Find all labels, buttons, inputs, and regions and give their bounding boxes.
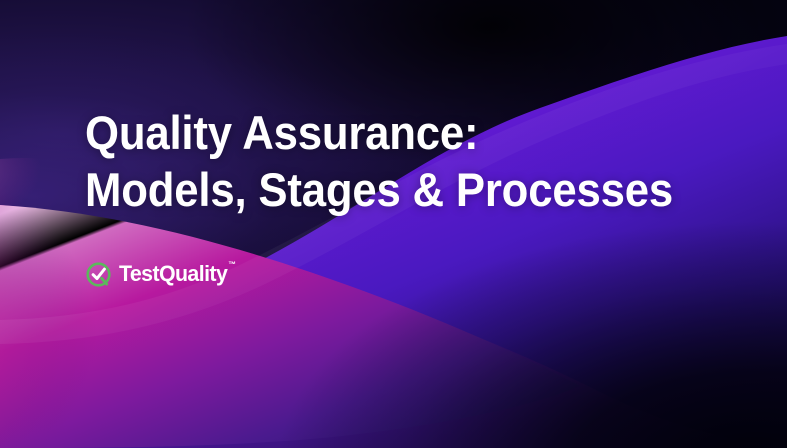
hero-banner: Quality Assurance: Models, Stages & Proc… xyxy=(0,0,787,448)
trademark-symbol: ™ xyxy=(228,260,236,269)
page-title: Quality Assurance: Models, Stages & Proc… xyxy=(85,104,673,218)
page-title-line-1: Quality Assurance: xyxy=(85,104,673,161)
page-title-line-2: Models, Stages & Processes xyxy=(85,161,673,218)
brand-logo[interactable]: TestQuality™ xyxy=(85,258,239,290)
brand-name: TestQuality™ xyxy=(119,263,235,285)
banner-content: Quality Assurance: Models, Stages & Proc… xyxy=(85,0,745,448)
brand-name-text: TestQuality xyxy=(119,261,227,286)
check-circle-q-icon xyxy=(85,261,112,288)
